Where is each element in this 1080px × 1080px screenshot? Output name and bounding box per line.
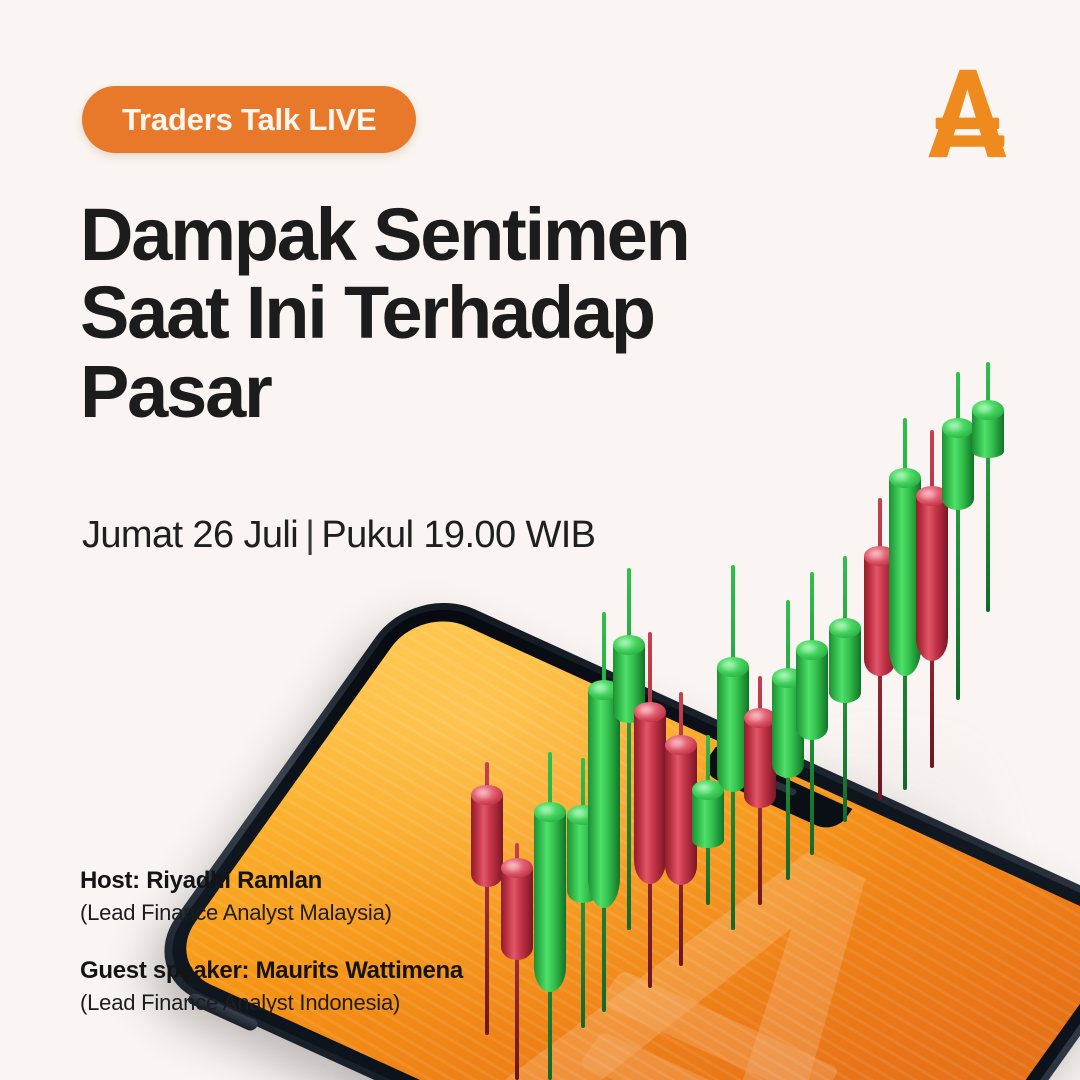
headline-line-2: Saat Ini Terhadap [80, 274, 860, 352]
event-schedule: Jumat 26 Juli|Pukul 19.00 WIB [82, 514, 595, 557]
guest-credit: Guest speaker: Maurits Wattimena (Lead F… [80, 956, 600, 1018]
promo-poster: Traders Talk LIVE Dampak Sentimen Saat I… [0, 0, 1080, 1080]
poster-content: Traders Talk LIVE Dampak Sentimen Saat I… [0, 0, 1080, 1080]
speaker-credits: Host: Riyadhi Ramlan (Lead Finance Analy… [80, 866, 600, 1017]
guest-name: Guest speaker: Maurits Wattimena [80, 956, 600, 986]
live-badge-label: Traders Talk LIVE [122, 102, 376, 138]
guest-role: (Lead Finance Analyst Indonesia) [80, 989, 600, 1018]
host-role: (Lead Finance Analyst Malaysia) [80, 899, 600, 928]
host-credit: Host: Riyadhi Ramlan (Lead Finance Analy… [80, 866, 600, 928]
brand-a-monogram-icon [918, 62, 1022, 166]
headline-line-3: Pasar [80, 353, 860, 431]
live-badge[interactable]: Traders Talk LIVE [82, 86, 416, 153]
event-date: Jumat 26 Juli [82, 514, 298, 556]
schedule-separator: | [298, 514, 321, 557]
headline-line-1: Dampak Sentimen [80, 196, 860, 274]
page-title: Dampak Sentimen Saat Ini Terhadap Pasar [80, 196, 860, 431]
host-name: Host: Riyadhi Ramlan [80, 866, 600, 896]
event-time: Pukul 19.00 WIB [321, 514, 595, 556]
